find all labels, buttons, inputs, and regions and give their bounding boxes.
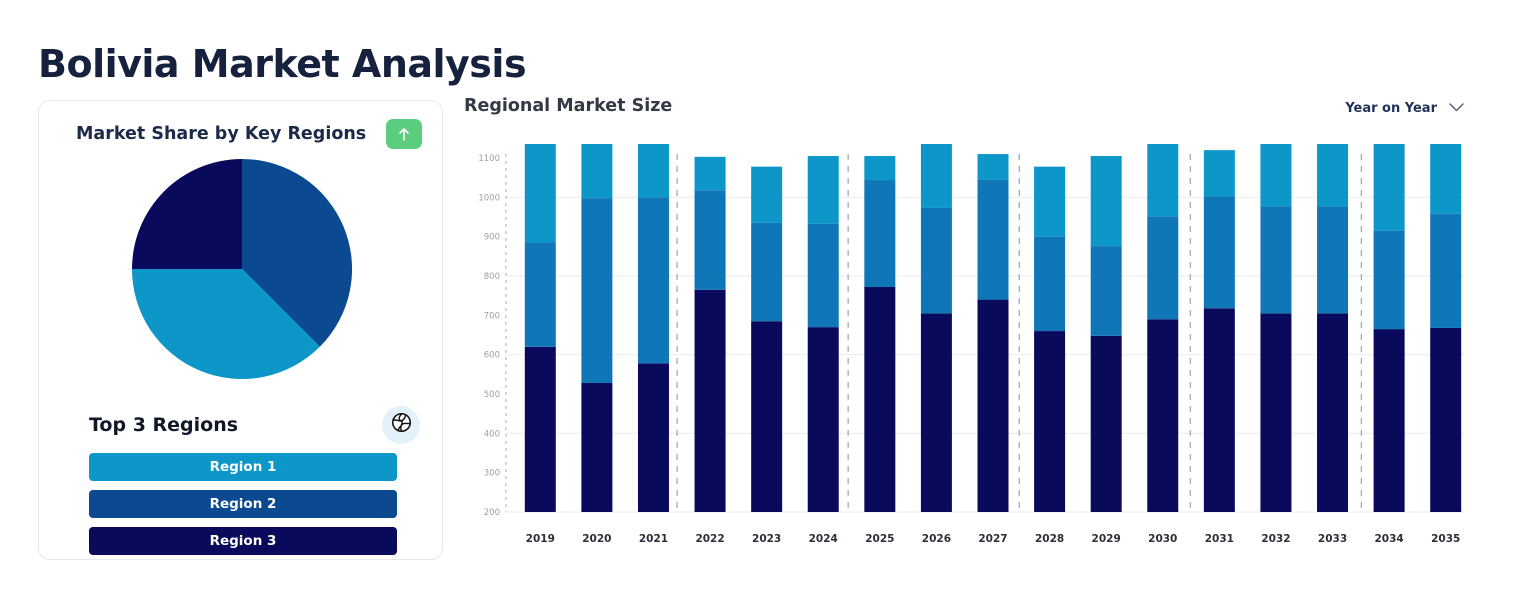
bar-segment[interactable] — [638, 144, 669, 197]
bar-segment[interactable] — [1204, 308, 1235, 512]
pie-slice-region-3 — [132, 159, 242, 269]
bar-segment[interactable] — [808, 327, 839, 512]
bar-group[interactable] — [695, 157, 726, 512]
x-axis-tick-label: 2034 — [1375, 533, 1404, 545]
bar-segment[interactable] — [1430, 328, 1461, 512]
x-axis-tick-label: 2028 — [1035, 533, 1064, 545]
bar-segment[interactable] — [864, 180, 895, 287]
bar-group[interactable] — [1374, 144, 1405, 512]
y-axis-tick-label: 1000 — [478, 193, 500, 203]
market-share-title: Market Share by Key Regions — [76, 124, 366, 144]
bar-segment[interactable] — [581, 383, 612, 512]
y-axis-tick-label: 200 — [484, 508, 500, 518]
bar-segment[interactable] — [638, 197, 669, 363]
bar-segment[interactable] — [978, 180, 1009, 300]
region-chip-1[interactable]: Region 1 — [89, 453, 397, 481]
bar-segment[interactable] — [1317, 206, 1348, 313]
bar-segment[interactable] — [978, 300, 1009, 512]
bar-segment[interactable] — [1034, 237, 1065, 331]
bar-segment[interactable] — [1091, 156, 1122, 246]
bar-group[interactable] — [978, 154, 1009, 512]
y-axis-tick-label: 300 — [484, 469, 500, 479]
bar-group[interactable] — [1317, 144, 1348, 512]
dashboard-page: Bolivia Market Analysis Market Share by … — [0, 0, 1526, 591]
bar-segment[interactable] — [1317, 144, 1348, 206]
bar-group[interactable] — [1034, 167, 1065, 512]
bar-segment[interactable] — [808, 224, 839, 327]
pie-svg — [129, 156, 355, 382]
chart-title: Regional Market Size — [464, 96, 672, 116]
bar-segment[interactable] — [1147, 216, 1178, 319]
x-axis-tick-label: 2031 — [1205, 533, 1234, 545]
region-chip-1-label: Region 1 — [210, 459, 277, 475]
bar-group[interactable] — [1260, 144, 1291, 512]
bar-segment[interactable] — [1260, 144, 1291, 206]
y-axis-tick-label: 500 — [484, 390, 500, 400]
bar-group[interactable] — [525, 144, 556, 512]
x-axis-tick-label: 2019 — [526, 533, 555, 545]
bar-group[interactable] — [864, 156, 895, 512]
x-axis-tick-label: 2035 — [1431, 533, 1460, 545]
bar-segment[interactable] — [1204, 150, 1235, 196]
bar-group[interactable] — [1091, 156, 1122, 512]
bar-segment[interactable] — [1034, 331, 1065, 512]
x-axis-tick-label: 2023 — [752, 533, 781, 545]
market-share-pie-chart — [39, 149, 443, 389]
bar-segment[interactable] — [808, 156, 839, 224]
bar-group[interactable] — [808, 156, 839, 512]
page-title: Bolivia Market Analysis — [38, 42, 526, 86]
bar-segment[interactable] — [638, 363, 669, 512]
bar-segment[interactable] — [525, 243, 556, 347]
market-share-card-header: Market Share by Key Regions — [76, 119, 422, 149]
bar-segment[interactable] — [525, 144, 556, 243]
bar-segment[interactable] — [1260, 206, 1291, 313]
bar-segment[interactable] — [921, 208, 952, 313]
x-axis-tick-label: 2026 — [922, 533, 951, 545]
bar-segment[interactable] — [695, 190, 726, 290]
bar-group[interactable] — [1147, 144, 1178, 512]
x-axis-tick-label: 2032 — [1261, 533, 1290, 545]
region-chip-2-label: Region 2 — [210, 496, 277, 512]
stacked-bar-chart: 2003004005006007008009001000110020192020… — [464, 144, 1486, 564]
bar-group[interactable] — [921, 144, 952, 512]
x-axis-tick-label: 2021 — [639, 533, 668, 545]
bar-group[interactable] — [1430, 144, 1461, 512]
bar-segment[interactable] — [1260, 313, 1291, 512]
bar-segment[interactable] — [921, 144, 952, 208]
bar-segment[interactable] — [1091, 246, 1122, 336]
bar-segment[interactable] — [921, 313, 952, 512]
y-axis-tick-label: 1100 — [478, 154, 500, 164]
top-regions-list: Region 1 Region 2 Region 3 — [89, 453, 397, 560]
top-regions-header: Top 3 Regions — [89, 406, 420, 444]
globe-icon — [391, 412, 412, 438]
bar-segment[interactable] — [525, 347, 556, 512]
x-axis-tick-label: 2030 — [1148, 533, 1177, 545]
bar-segment[interactable] — [864, 156, 895, 180]
arrow-up-button[interactable] — [386, 119, 422, 149]
x-axis-tick-label: 2022 — [695, 533, 724, 545]
bar-segment[interactable] — [1147, 144, 1178, 216]
bar-segment[interactable] — [978, 154, 1009, 180]
chevron-down-icon — [1449, 99, 1464, 117]
bar-group[interactable] — [751, 167, 782, 512]
regional-market-size-panel: Regional Market Size Year on Year 200300… — [464, 96, 1486, 566]
bar-segment[interactable] — [1204, 196, 1235, 308]
x-axis-tick-label: 2020 — [582, 533, 611, 545]
bar-segment[interactable] — [1317, 313, 1348, 512]
globe-badge[interactable] — [382, 406, 420, 444]
market-share-card: Market Share by Key Regions Top 3 Reg — [38, 100, 443, 560]
bar-segment[interactable] — [581, 198, 612, 383]
bar-group[interactable] — [1204, 150, 1235, 512]
region-chip-2[interactable]: Region 2 — [89, 490, 397, 518]
bar-group[interactable] — [581, 144, 612, 512]
bar-segment[interactable] — [1430, 144, 1461, 214]
x-axis-tick-label: 2024 — [809, 533, 838, 545]
bar-segment[interactable] — [1374, 329, 1405, 512]
bar-segment[interactable] — [1374, 231, 1405, 329]
chart-svg: 2003004005006007008009001000110020192020… — [464, 144, 1486, 564]
y-axis-tick-label: 700 — [484, 311, 500, 321]
bar-segment[interactable] — [695, 290, 726, 512]
bar-segment[interactable] — [864, 287, 895, 512]
x-axis-tick-label: 2029 — [1092, 533, 1121, 545]
chart-header: Regional Market Size Year on Year — [464, 96, 1486, 130]
y-axis-tick-label: 800 — [484, 272, 500, 282]
bar-segment[interactable] — [695, 157, 726, 190]
top-regions-title: Top 3 Regions — [89, 414, 238, 436]
bar-segment[interactable] — [1091, 336, 1122, 512]
bar-segment[interactable] — [1430, 214, 1461, 328]
y-axis-tick-label: 600 — [484, 351, 500, 361]
bar-segment[interactable] — [581, 144, 612, 198]
bar-segment[interactable] — [1374, 144, 1405, 231]
bar-segment[interactable] — [751, 167, 782, 223]
x-axis-tick-label: 2027 — [978, 533, 1007, 545]
y-axis-tick-label: 400 — [484, 429, 500, 439]
bar-segment[interactable] — [1034, 167, 1065, 237]
bar-group[interactable] — [638, 144, 669, 512]
x-axis-tick-label: 2033 — [1318, 533, 1347, 545]
region-chip-3-label: Region 3 — [210, 533, 277, 549]
bar-segment[interactable] — [751, 321, 782, 512]
y-axis-tick-label: 900 — [484, 233, 500, 243]
year-on-year-label: Year on Year — [1345, 101, 1437, 116]
region-chip-3[interactable]: Region 3 — [89, 527, 397, 555]
bar-segment[interactable] — [1147, 319, 1178, 512]
x-axis-tick-label: 2025 — [865, 533, 894, 545]
year-on-year-dropdown[interactable]: Year on Year — [1345, 99, 1464, 117]
bar-segment[interactable] — [751, 223, 782, 321]
arrow-up-icon — [397, 126, 411, 142]
